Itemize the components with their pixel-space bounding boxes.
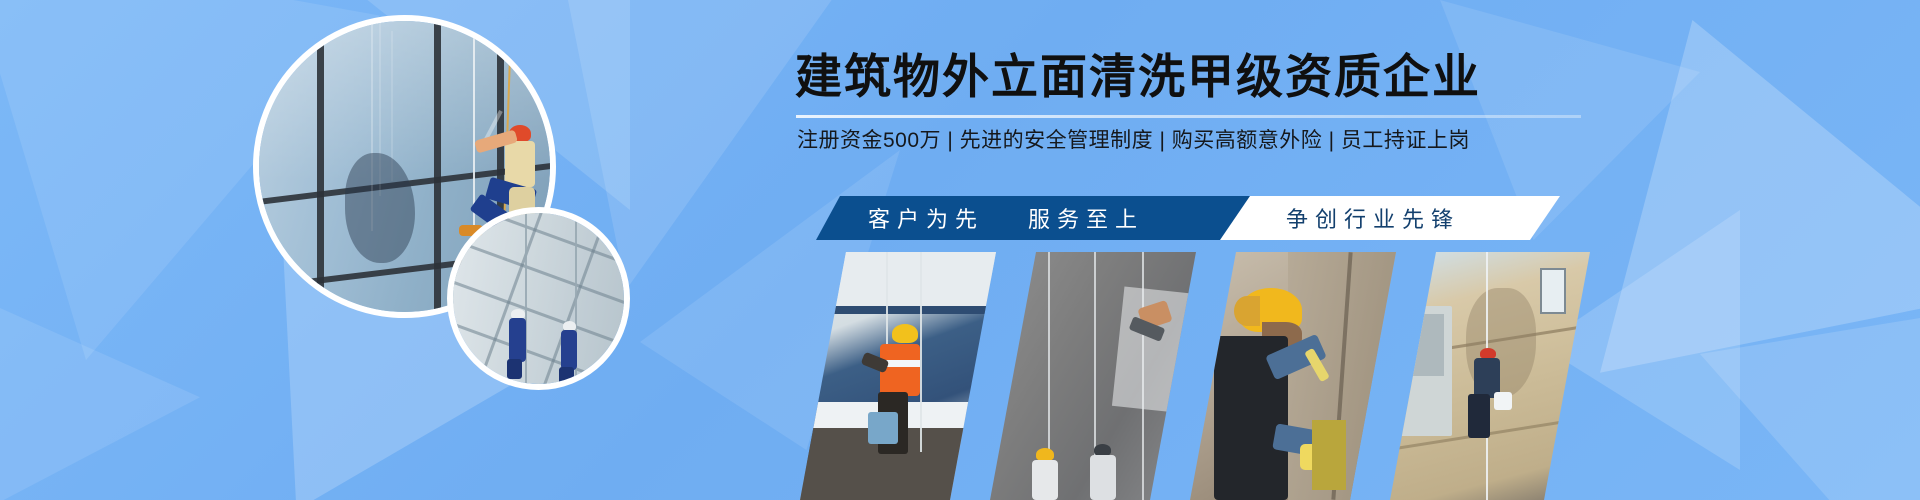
worker-legs <box>507 359 522 379</box>
hard-hat-icon <box>892 324 918 343</box>
photo-strip <box>800 252 1590 500</box>
window-icon <box>1540 268 1566 314</box>
facade-parapet <box>800 252 996 306</box>
light-concrete-facade-photo <box>453 213 624 384</box>
decor-triangle-icon <box>1600 20 1920 440</box>
facade-line <box>453 276 624 361</box>
plaster-board <box>1312 420 1346 490</box>
worker-torso <box>505 141 535 187</box>
tagline-segment-1: 客户为先 <box>868 202 984 234</box>
facade-line <box>453 318 624 384</box>
paint-bucket <box>1494 392 1512 410</box>
facade-line <box>466 213 547 384</box>
photo-circle-small <box>447 207 630 390</box>
safety-rope <box>920 252 922 452</box>
photo-strip-item <box>1390 252 1590 500</box>
worker-torso <box>561 330 577 370</box>
subheadline-text: 注册资金500万 | 先进的安全管理制度 | 购买高额意外险 | 员工持证上岗 <box>797 124 1597 154</box>
glass-reflection <box>345 153 415 263</box>
decor-triangle-icon <box>1700 300 1920 500</box>
photo-strip-item <box>800 252 996 500</box>
promo-banner: 建筑物外立面清洗甲级资质企业 注册资金500万 | 先进的安全管理制度 | 购买… <box>0 0 1920 500</box>
tagline-segment-2: 服务至上 <box>1028 202 1144 234</box>
worker-legs <box>1468 394 1490 438</box>
headline-divider <box>796 115 1581 118</box>
headline-title: 建筑物外立面清洗甲级资质企业 <box>795 52 1585 101</box>
safety-vest <box>880 344 920 396</box>
facade-line <box>453 234 624 319</box>
worker-legs <box>559 367 574 384</box>
residential-facade-photo <box>1390 252 1590 500</box>
worker-torso <box>1090 455 1116 500</box>
worker-torso <box>509 318 526 362</box>
decor-triangle-icon <box>0 250 200 500</box>
worker-torso <box>1032 460 1058 500</box>
wall-plastering-closeup-photo <box>1190 252 1396 500</box>
photo-strip-item <box>990 252 1196 500</box>
building-painting-photo <box>800 252 996 500</box>
photo-strip-item <box>1190 252 1396 500</box>
facade-mullion <box>317 21 324 312</box>
grey-wall-rope-access-photo <box>990 252 1196 500</box>
facade-trim <box>800 306 996 314</box>
tagline-bar: 客户为先 服务至上 争创行业先锋 <box>800 196 1580 240</box>
balcony-railing <box>1396 314 1444 376</box>
paint-bucket <box>868 412 898 444</box>
tagline-blue-panel: 客户为先 服务至上 <box>816 196 1250 240</box>
tagline-segment-3: 争创行业先锋 <box>1286 202 1460 234</box>
tagline-white-panel: 争创行业先锋 <box>1220 196 1560 240</box>
hard-hat-brim <box>1234 296 1260 326</box>
